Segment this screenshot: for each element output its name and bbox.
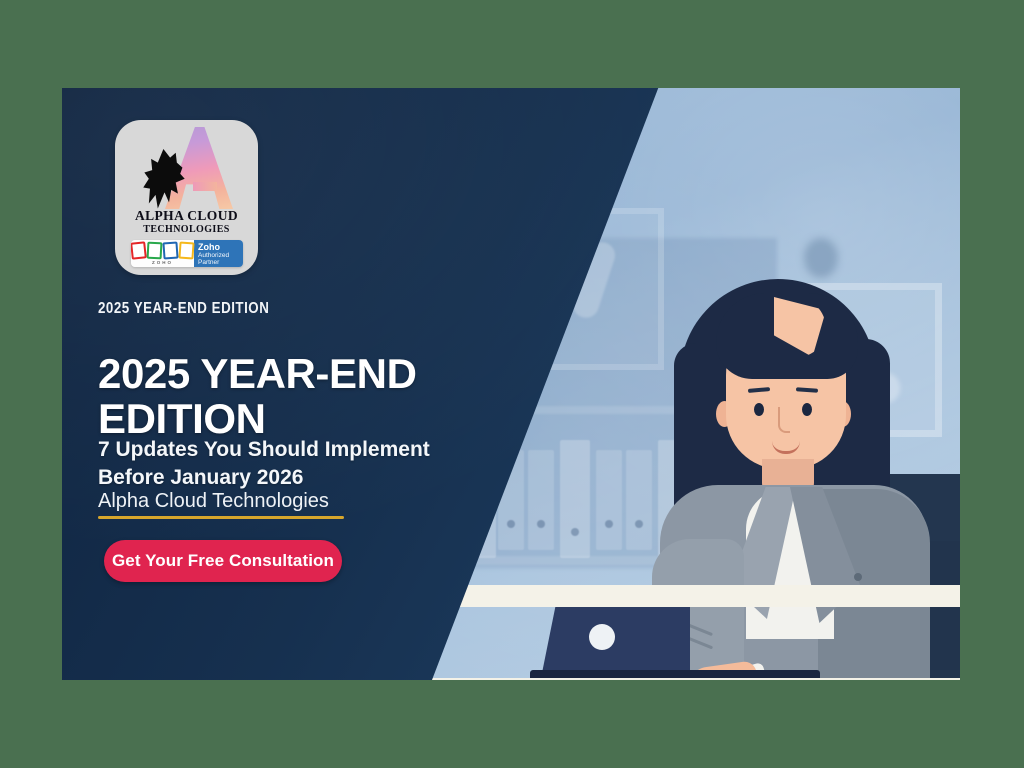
nose bbox=[778, 407, 790, 433]
logo-company-name: ALPHA CLOUD bbox=[115, 208, 258, 224]
laptop-logo-icon bbox=[589, 624, 615, 650]
zoho-brand-label: Zoho bbox=[198, 242, 243, 252]
zoho-wordmark: ZOHO bbox=[152, 260, 173, 265]
zoho-logo-icon: ZOHO bbox=[131, 240, 194, 267]
binder-icon bbox=[560, 440, 590, 558]
get-free-consultation-button[interactable]: Get Your Free Consultation bbox=[104, 540, 342, 582]
gold-divider bbox=[98, 516, 344, 519]
eye-left bbox=[754, 403, 764, 416]
brand-line: Alpha Cloud Technologies bbox=[98, 490, 329, 513]
zoho-squares bbox=[131, 242, 194, 259]
zoho-square-green bbox=[147, 242, 163, 260]
letter-a-crossbar bbox=[193, 182, 217, 191]
zoho-authorized-label: Authorized bbox=[198, 252, 243, 259]
eye-right bbox=[802, 403, 812, 416]
eyebrow-label: 2025 YEAR-END EDITION bbox=[98, 300, 269, 318]
logo-company-suffix: TECHNOLOGIES bbox=[115, 224, 258, 235]
zoho-partner-panel: Zoho Authorized Partner bbox=[194, 240, 243, 267]
blazer-button bbox=[854, 573, 862, 581]
binder-icon bbox=[528, 450, 554, 550]
promo-banner-card: ALPHA CLOUD TECHNOLOGIES ZOHO Zoho Autho… bbox=[62, 88, 960, 680]
logo-mark bbox=[115, 125, 258, 209]
zoho-square-red bbox=[131, 241, 147, 259]
wall-decor-blob bbox=[804, 238, 838, 278]
company-logo-tile[interactable]: ALPHA CLOUD TECHNOLOGIES ZOHO Zoho Autho… bbox=[115, 120, 258, 275]
zoho-square-yellow bbox=[178, 241, 194, 259]
zoho-partner-label: Partner bbox=[198, 259, 243, 266]
page-title: 2025 YEAR-END EDITION bbox=[98, 352, 478, 441]
zoho-authorized-partner-badge[interactable]: ZOHO Zoho Authorized Partner bbox=[131, 240, 243, 267]
subheadline: 7 Updates You Should Implement Before Ja… bbox=[98, 436, 498, 493]
binder-icon bbox=[596, 450, 622, 550]
zoho-square-blue bbox=[162, 241, 178, 259]
